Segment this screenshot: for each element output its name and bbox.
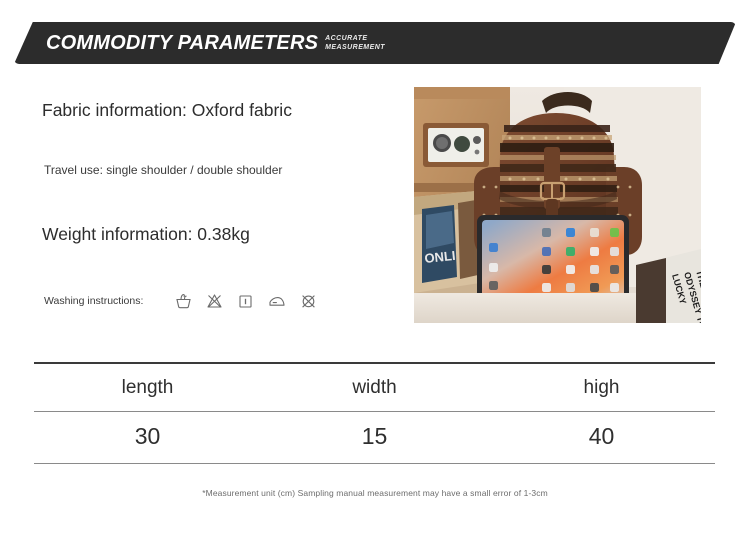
product-photo-illustration: ONLI <box>414 87 701 323</box>
banner-subtitle: ACCURATE MEASUREMENT <box>325 35 385 52</box>
hand-wash-tub-icon <box>175 293 192 309</box>
table-rule-bottom <box>34 463 715 464</box>
washing-icons-group <box>175 293 317 309</box>
measurement-note: *Measurement unit (cm) Sampling manual m… <box>0 488 750 498</box>
header-banner: COMMODITY PARAMETERS ACCURATE MEASUREMEN… <box>0 22 750 64</box>
table-value-high: 40 <box>488 412 715 463</box>
banner-subtitle-line1: ACCURATE <box>325 35 367 42</box>
spec-weight-information: Weight information: 0.38kg <box>42 224 250 245</box>
washing-instructions-row: Washing instructions: <box>44 293 317 309</box>
washing-instructions-label: Washing instructions: <box>44 295 143 307</box>
dimensions-table: length width high 30 15 40 <box>34 362 715 464</box>
spec-fabric-information: Fabric information: Oxford fabric <box>42 100 292 121</box>
spec-travel-use: Travel use: single shoulder / double sho… <box>44 163 282 177</box>
do-not-bleach-icon <box>206 293 223 309</box>
drip-dry-icon <box>237 293 254 309</box>
product-photo: ONLI <box>414 87 701 323</box>
table-value-row: 30 15 40 <box>34 412 715 463</box>
table-value-length: 30 <box>34 412 261 463</box>
table-header-high: high <box>488 364 715 411</box>
table-header-row: length width high <box>34 364 715 411</box>
table-value-width: 15 <box>261 412 488 463</box>
table-header-width: width <box>261 364 488 411</box>
do-not-dry-clean-icon <box>300 293 317 309</box>
specifications-list: Fabric information: Oxford fabric Travel… <box>0 86 400 326</box>
iron-icon <box>268 293 286 309</box>
banner-subtitle-line2: MEASUREMENT <box>325 44 385 51</box>
banner-text-group: COMMODITY PARAMETERS ACCURATE MEASUREMEN… <box>46 22 385 64</box>
banner-title: COMMODITY PARAMETERS <box>46 32 318 55</box>
table-header-length: length <box>34 364 261 411</box>
